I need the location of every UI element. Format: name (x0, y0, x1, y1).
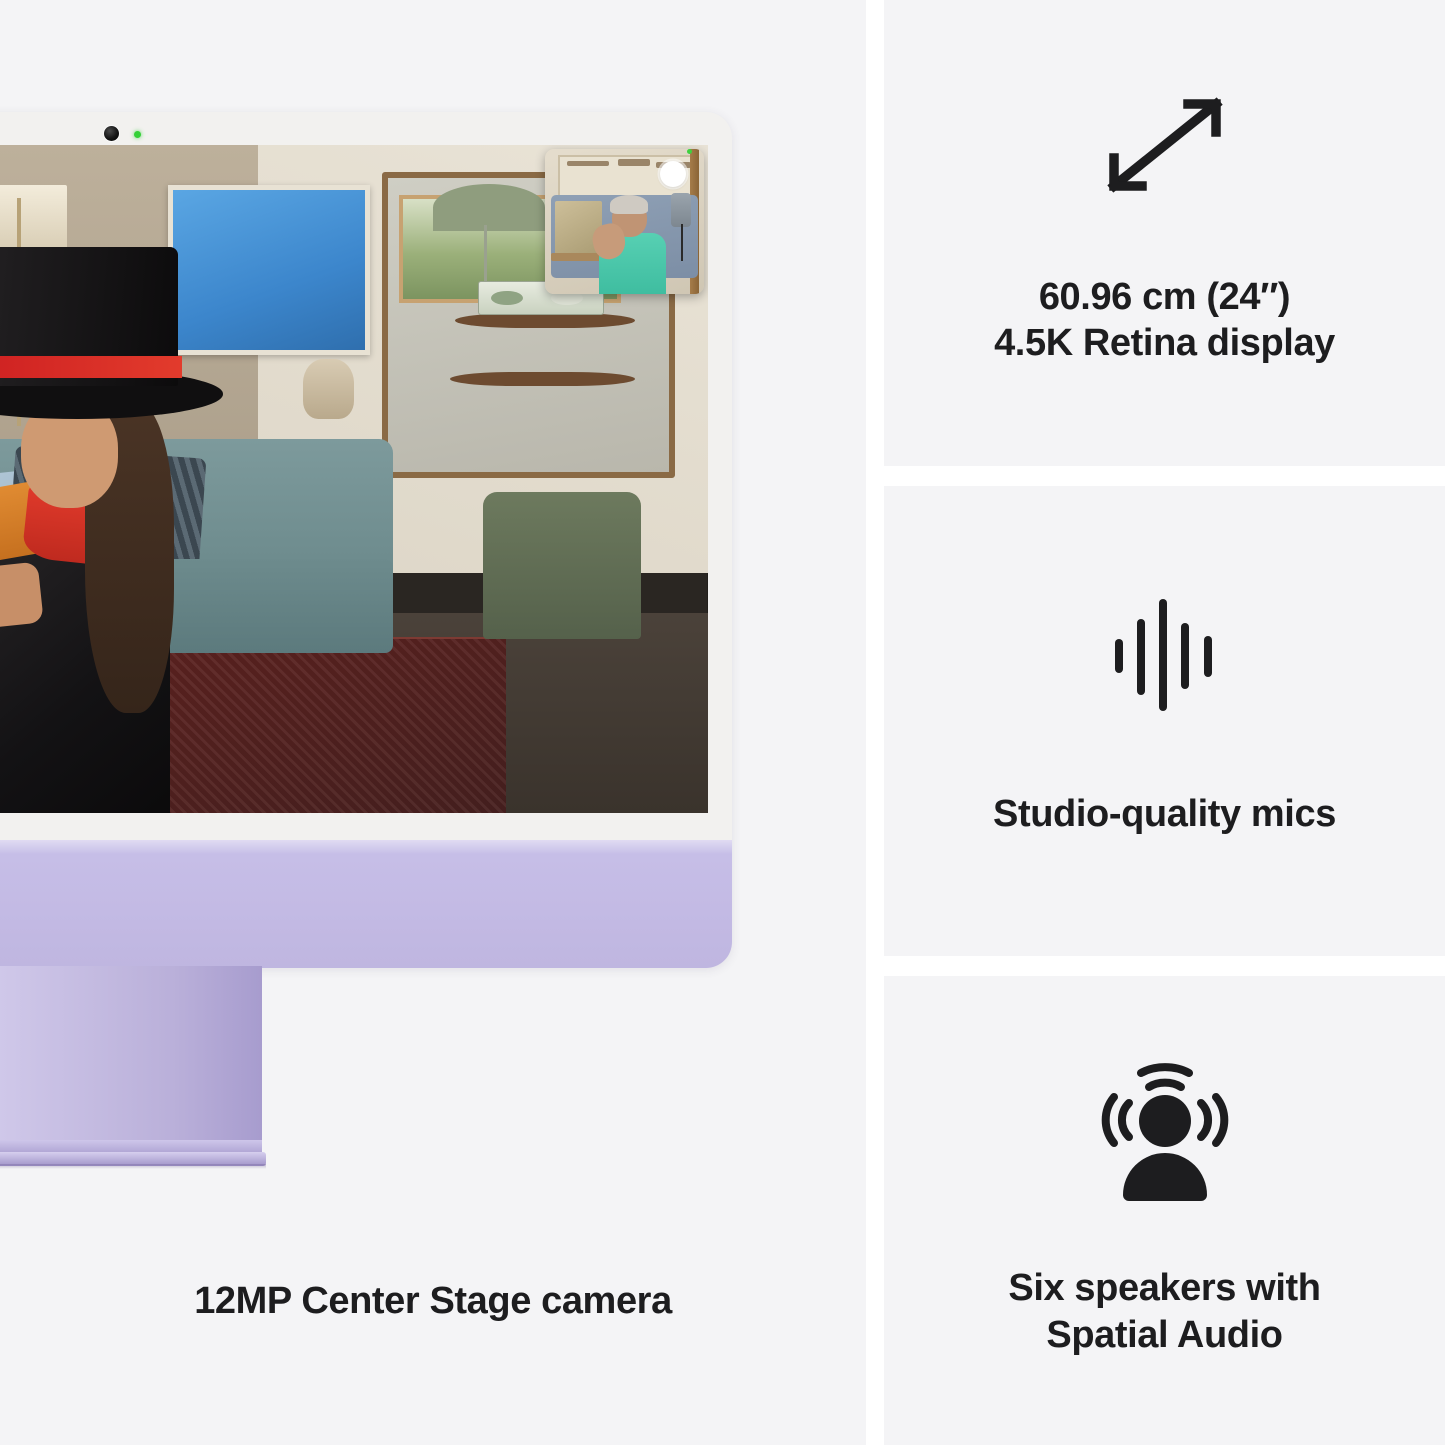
imac-device (0, 112, 732, 968)
display-label-line1: 60.96 cm (24″) (994, 274, 1335, 320)
camera-feature-panel: 12MP Center Stage camera (0, 0, 866, 1445)
imac-screen (0, 145, 708, 813)
wall-shelf (455, 313, 635, 328)
camera-feature-caption: 12MP Center Stage camera (0, 1280, 866, 1323)
spatial-audio-person-icon (1089, 1059, 1241, 1209)
display-feature-panel: 60.96 cm (24″) 4.5K Retina display (884, 0, 1445, 466)
mics-label-line1: Studio-quality mics (993, 791, 1336, 837)
wall-shelf (450, 372, 635, 387)
imac-chin-sheen (0, 840, 732, 854)
child-participant (0, 259, 348, 813)
speakers-label-line2: Spatial Audio (1008, 1312, 1320, 1358)
camera-active-led-icon (134, 131, 141, 138)
speakers-label-line1: Six speakers with (1008, 1265, 1320, 1311)
audio-waveform-icon (1113, 595, 1217, 715)
radio-dial (491, 291, 523, 305)
imac-body (0, 112, 732, 968)
imac-stand-neck (0, 966, 262, 1156)
top-hat-red-band (0, 356, 182, 378)
record-button-icon[interactable] (660, 161, 686, 187)
dome-lamp-shade (433, 184, 545, 231)
pip-active-led-icon (687, 149, 692, 154)
speakers-feature-label: Six speakers with Spatial Audio (1008, 1265, 1320, 1358)
facetime-video-feed (0, 145, 708, 813)
speakers-feature-panel: Six speakers with Spatial Audio (884, 976, 1445, 1445)
display-label-line2: 4.5K Retina display (994, 320, 1335, 366)
pip-person-hair (610, 195, 648, 214)
pip-floor-lamp (671, 193, 692, 228)
diagonal-resize-arrows-icon (1090, 82, 1240, 210)
imac-stand-shadow (0, 1164, 266, 1169)
display-feature-label: 60.96 cm (24″) 4.5K Retina display (994, 274, 1335, 367)
armchair (483, 492, 640, 639)
camera-lens-icon (104, 126, 119, 141)
mics-feature-panel: Studio-quality mics (884, 486, 1445, 956)
imac-chin (0, 840, 732, 968)
mics-feature-label: Studio-quality mics (993, 791, 1336, 837)
page-root: 12MP Center Stage camera 60.96 cm (24″) … (0, 0, 1445, 1445)
pip-lamp-stem (681, 224, 683, 260)
features-column: 60.96 cm (24″) 4.5K Retina display (884, 0, 1445, 1445)
floor-lamp-shade (0, 185, 67, 252)
